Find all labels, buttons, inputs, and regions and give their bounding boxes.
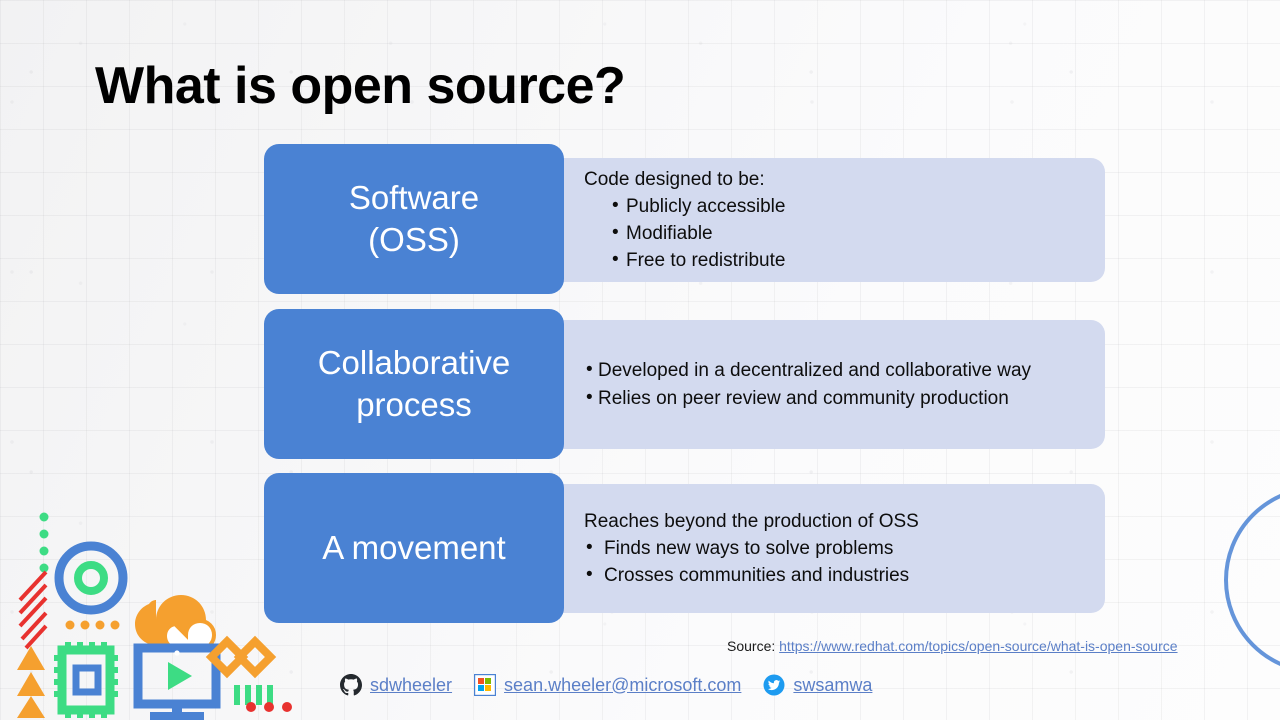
detail-bullet-list: Publicly accessible Modifiable Free to r…	[610, 193, 1095, 274]
list-item: Developed in a decentralized and collabo…	[584, 357, 1095, 384]
contact-twitter[interactable]: swsamwa	[763, 674, 872, 696]
orange-triangle-stack-icon	[17, 646, 45, 718]
twitter-handle[interactable]: swsamwa	[793, 675, 872, 696]
list-item: Crosses communities and industries	[584, 562, 1095, 589]
microsoft-icon	[474, 674, 496, 696]
row-label-a-movement: A movement	[264, 473, 564, 623]
list-item: Modifiable	[610, 220, 1095, 247]
contact-bar: sdwheeler sean.wheeler@microsoft.com sws…	[340, 674, 872, 696]
source-line: Source: https://www.redhat.com/topics/op…	[727, 638, 1178, 654]
row-label-text: Software (OSS)	[349, 177, 479, 261]
cpu-chip-icon	[54, 642, 118, 718]
list-item: Publicly accessible	[610, 193, 1095, 220]
list-item: Free to redistribute	[610, 247, 1095, 274]
green-dot-column-icon	[40, 513, 49, 573]
contact-github[interactable]: sdwheeler	[340, 674, 452, 696]
decorative-tech-cluster	[0, 500, 300, 720]
detail-content: Code designed to be: Publicly accessible…	[584, 166, 1095, 275]
monitor-play-icon	[138, 648, 216, 720]
row-label-text: Collaborative process	[318, 342, 511, 426]
green-bar-row-icon	[234, 685, 273, 705]
detail-lead: Code designed to be:	[584, 166, 1095, 193]
orange-dot-row-icon	[66, 621, 120, 630]
detail-content: Reaches beyond the production of OSS Fin…	[584, 508, 1095, 589]
source-link[interactable]: https://www.redhat.com/topics/open-sourc…	[779, 638, 1177, 654]
row-label-line1: Collaborative	[318, 344, 511, 381]
row-detail-software: Code designed to be: Publicly accessible…	[500, 158, 1105, 282]
detail-bullet-list: Developed in a decentralized and collabo…	[584, 357, 1095, 411]
row-label-line1: Software	[349, 179, 479, 216]
red-dot-row-icon	[246, 702, 292, 712]
slide: What is open source? Code designed to be…	[0, 0, 1280, 720]
diamond-pair-icon	[211, 641, 270, 672]
target-ring-icon	[59, 546, 123, 610]
row-label-line2: (OSS)	[368, 221, 460, 258]
twitter-icon	[763, 674, 785, 696]
github-icon	[340, 674, 362, 696]
contact-microsoft[interactable]: sean.wheeler@microsoft.com	[474, 674, 741, 696]
list-item: Relies on peer review and community prod…	[584, 385, 1095, 412]
red-hatch-icon	[20, 572, 46, 648]
row-label-collaborative-process: Collaborative process	[264, 309, 564, 459]
detail-content: Developed in a decentralized and collabo…	[584, 357, 1095, 411]
source-label: Source:	[727, 638, 775, 654]
blue-arc-decoration	[1224, 486, 1280, 674]
github-handle[interactable]: sdwheeler	[370, 675, 452, 696]
list-item: Finds new ways to solve problems	[584, 535, 1095, 562]
detail-bullet-list: Finds new ways to solve problems Crosses…	[584, 535, 1095, 589]
microsoft-email[interactable]: sean.wheeler@microsoft.com	[504, 675, 741, 696]
row-label-line1: A movement	[322, 529, 505, 566]
cloud-icon	[135, 595, 214, 649]
row-label-line2: process	[356, 386, 472, 423]
row-detail-a-movement: Reaches beyond the production of OSS Fin…	[500, 484, 1105, 613]
row-label-software: Software (OSS)	[264, 144, 564, 294]
row-label-text: A movement	[322, 527, 505, 569]
row-detail-collaborative-process: Developed in a decentralized and collabo…	[500, 320, 1105, 449]
page-title: What is open source?	[95, 58, 625, 115]
detail-lead: Reaches beyond the production of OSS	[584, 508, 1095, 535]
